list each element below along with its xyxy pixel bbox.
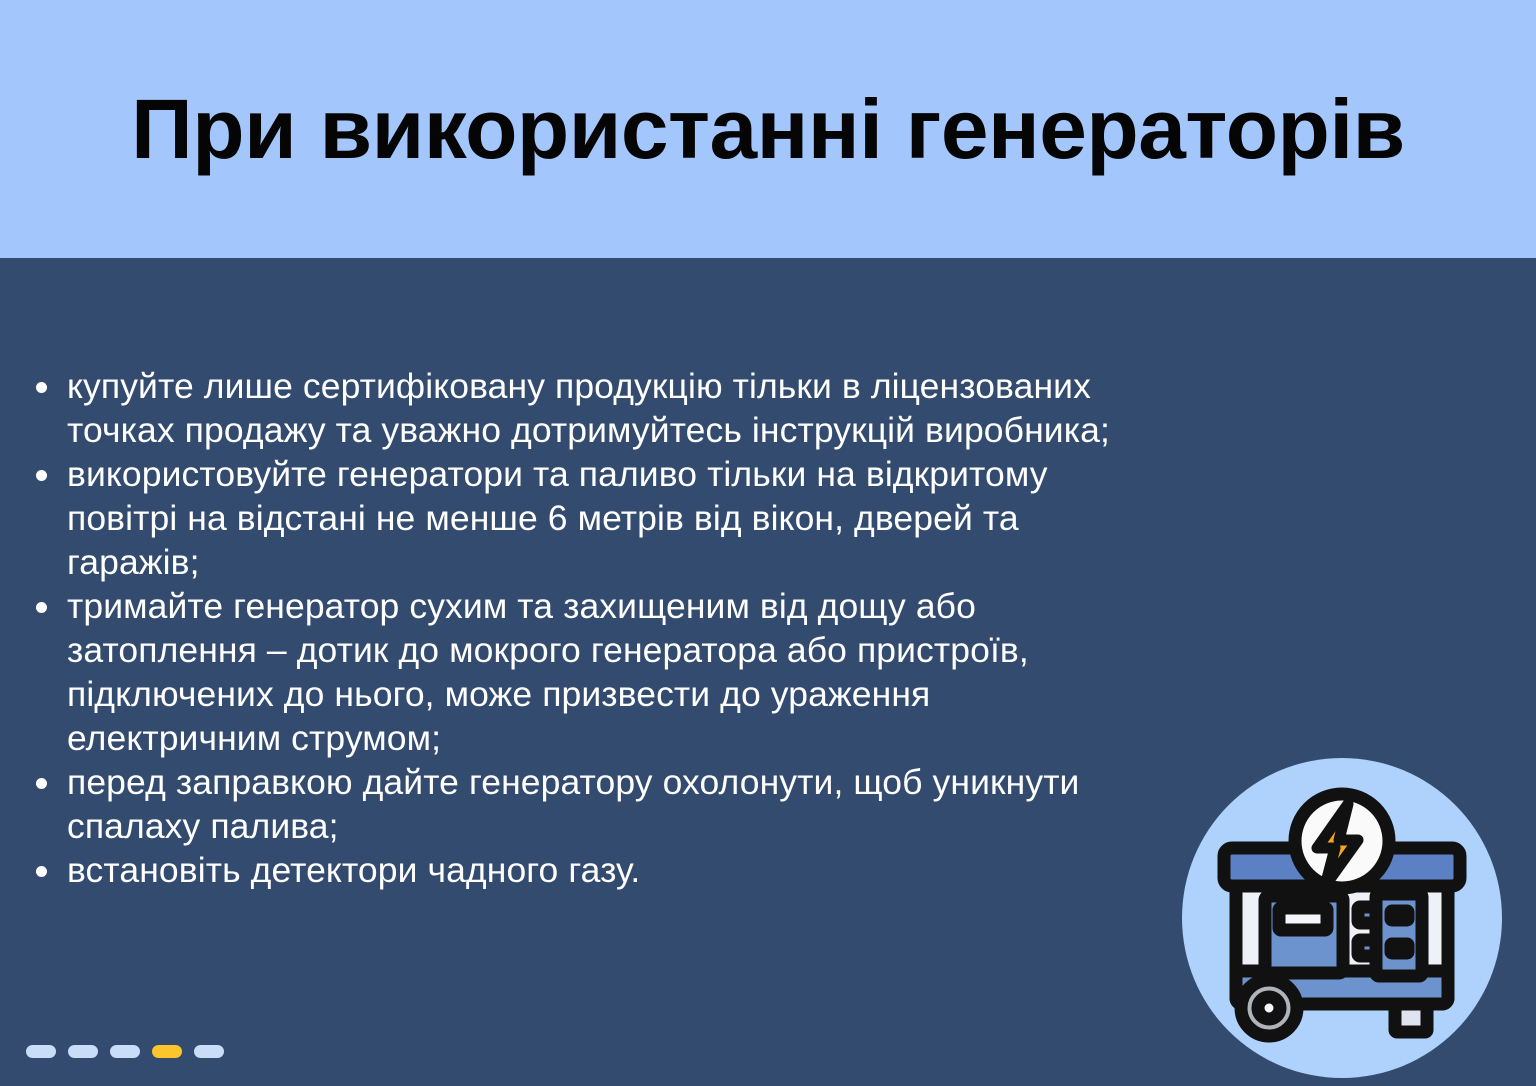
list-item: встановіть детектори чадного газу.	[22, 848, 1152, 892]
header-banner: При використанні генераторів	[0, 0, 1536, 258]
progress-dash	[68, 1045, 98, 1058]
list-item: перед заправкою дайте генератору охолону…	[22, 760, 1152, 848]
page-title: При використанні генераторів	[85, 88, 1452, 170]
progress-dash	[110, 1045, 140, 1058]
slide: При використанні генераторів купуйте лиш…	[0, 0, 1536, 1086]
generator-illustration	[1180, 756, 1504, 1080]
generator-icon	[1180, 756, 1504, 1080]
list-item: використовуйте генератори та паливо тіль…	[22, 452, 1152, 584]
progress-dash	[194, 1045, 224, 1058]
content-area: купуйте лише сертифіковану продукцію тіл…	[0, 258, 1536, 1086]
progress-indicator	[26, 1045, 224, 1058]
progress-dash	[26, 1045, 56, 1058]
safety-tips-list: купуйте лише сертифіковану продукцію тіл…	[22, 364, 1152, 892]
list-item: тримайте генератор сухим та захищеним ві…	[22, 584, 1152, 760]
list-item: купуйте лише сертифіковану продукцію тіл…	[22, 364, 1152, 452]
progress-dash-active	[152, 1045, 182, 1058]
